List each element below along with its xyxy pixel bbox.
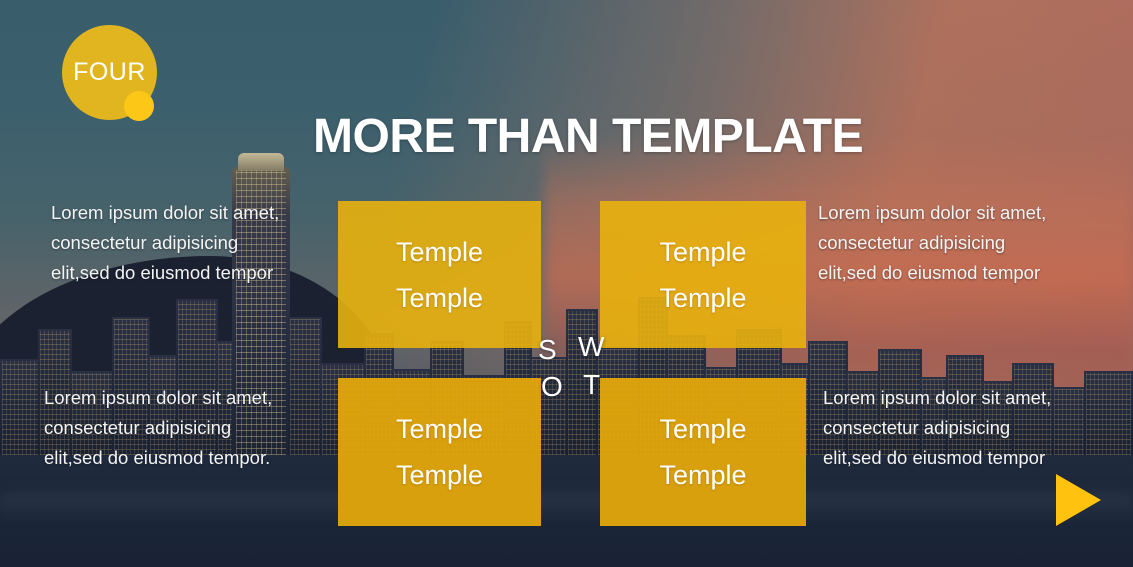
description-top-right: Lorem ipsum dolor sit amet, consectetur … (818, 198, 1118, 288)
description-bottom-right: Lorem ipsum dolor sit amet, consectetur … (823, 383, 1123, 473)
swot-letter-opportunities: O (541, 373, 563, 401)
quadrant-label: Temple Temple (396, 229, 483, 321)
quadrant-label: Temple Temple (659, 229, 746, 321)
quadrant-box-bottom-left[interactable]: Temple Temple (338, 378, 541, 526)
quadrant-box-bottom-right[interactable]: Temple Temple (600, 378, 806, 526)
quadrant-box-top-right[interactable]: Temple Temple (600, 201, 806, 348)
play-triangle-icon[interactable] (1056, 474, 1101, 526)
section-number-badge: FOUR (62, 25, 170, 135)
swot-letter-weaknesses: W (578, 333, 604, 361)
quadrant-box-top-left[interactable]: Temple Temple (338, 201, 541, 348)
badge-accent-dot (124, 91, 154, 121)
description-top-left: Lorem ipsum dolor sit amet, consectetur … (51, 198, 341, 288)
presentation-slide: FOUR MORE THAN TEMPLATE Lorem ipsum dolo… (0, 0, 1133, 567)
badge-label: FOUR (73, 58, 146, 87)
description-bottom-left: Lorem ipsum dolor sit amet, consectetur … (44, 383, 344, 473)
swot-letter-strengths: S (538, 336, 557, 364)
quadrant-label: Temple Temple (659, 406, 746, 498)
quadrant-label: Temple Temple (396, 406, 483, 498)
swot-letter-threats: T (583, 371, 600, 399)
page-title: MORE THAN TEMPLATE (313, 109, 863, 164)
